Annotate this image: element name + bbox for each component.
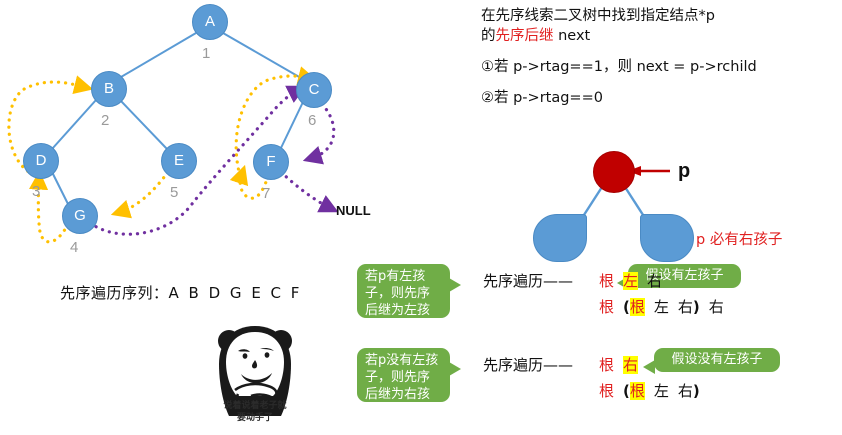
tree-node-F: F [253, 144, 289, 180]
p-node-circle [593, 151, 635, 193]
traversal-row-3: 根右 [599, 354, 638, 375]
null-thread-label: NULL [336, 203, 371, 218]
preorder-sequence: 先序遍历序列：A B D G E C F [60, 282, 302, 303]
panda-caption-line2: 要动手了 [205, 413, 305, 424]
traversal-token: 根 [599, 382, 614, 400]
callout-assume-no-left: 假设没有左孩子 [654, 348, 780, 372]
traversal-token: 根 [599, 272, 614, 290]
callout-no-left-child-text: 若p没有左孩子，则先序后继为右孩子 [365, 353, 438, 419]
explanation-line-2-prefix: 的 [481, 28, 496, 44]
edge-label-2: 2 [101, 112, 109, 129]
purple-thread-arrows [90, 90, 334, 234]
explanation-line-2-suffix: next [554, 28, 591, 44]
callout-tail-icon [449, 278, 461, 292]
edge-label-7: 7 [262, 185, 270, 202]
p-right-subtree [640, 214, 694, 262]
edge-label-4: 4 [70, 239, 78, 256]
explanation-line-2-highlight: 先序后继 [496, 28, 554, 44]
traversal-label-2: 先序遍历—— [483, 354, 573, 375]
traversal-token: 左 [654, 298, 669, 316]
p-must-have-right-child-note: p 必有右孩子 [696, 228, 782, 249]
traversal-token: ) [693, 298, 700, 316]
p-left-subtree [533, 214, 587, 262]
tree-node-A: A [192, 4, 228, 40]
tree-node-G: G [62, 198, 98, 234]
traversal-token: 右 [678, 298, 693, 316]
tree-node-D: D [23, 143, 59, 179]
traversal-token: ) [693, 382, 700, 400]
traversal-token: 根 [630, 382, 645, 400]
panda-caption-line1: 说着说着老子就 [205, 401, 305, 412]
tree-node-C: C [296, 72, 332, 108]
explanation-case-2: ②若 p->rtag==0 [481, 88, 841, 108]
traversal-token: 根 [599, 298, 614, 316]
panda-meme-image: 说着说着老子就 要动手了 [205, 324, 305, 430]
p-pointer-label: p [678, 160, 690, 183]
callout-has-left-child: 若p有左孩子，则先序后继为左孩子 [357, 264, 450, 318]
callout-no-left-child: 若p没有左孩子，则先序后继为右孩子 [357, 348, 450, 402]
tree-node-B: B [91, 71, 127, 107]
traversal-token: 左 [623, 272, 638, 290]
callout-tail-icon [643, 360, 655, 374]
traversal-row-4: 根(根左右) [599, 380, 700, 401]
preorder-sequence-prefix: 先序遍历序列： [60, 284, 169, 302]
explanation-line-2: 的先序后继 next [481, 26, 841, 46]
traversal-token: ( [623, 382, 630, 400]
callout-tail-icon [449, 362, 461, 376]
traversal-token: ( [623, 298, 630, 316]
traversal-label-1: 先序遍历—— [483, 270, 573, 291]
edge-label-6: 6 [308, 112, 316, 129]
traversal-token: 根 [599, 356, 614, 374]
explanation-case-1: ①若 p->rtag==1，则 next = p->rchild [481, 57, 841, 77]
traversal-token: 右 [678, 382, 693, 400]
preorder-sequence-letters: A B D G E C F [169, 284, 302, 302]
traversal-token: 右 [623, 356, 638, 374]
traversal-token: 右 [709, 298, 724, 316]
traversal-token: 左 [654, 382, 669, 400]
edge-label-1: 1 [202, 45, 210, 62]
tree-node-E: E [161, 143, 197, 179]
traversal-row-2: 根(根左右)右 [599, 296, 724, 317]
p-node-figure: p p 必有右孩子 [500, 140, 842, 258]
explanation-line-1: 在先序线索二叉树中找到指定结点*p [481, 6, 841, 26]
traversal-row-1: 根左右 [599, 270, 662, 291]
edge-label-5: 5 [170, 184, 178, 201]
edge-label-3: 3 [32, 183, 40, 200]
explanation-text-block: 在先序线索二叉树中找到指定结点*p 的先序后继 next ①若 p->rtag=… [481, 6, 841, 108]
callout-assume-no-left-text: 假设没有左孩子 [671, 352, 762, 367]
traversal-token: 根 [630, 298, 645, 316]
traversal-token: 右 [647, 272, 662, 290]
